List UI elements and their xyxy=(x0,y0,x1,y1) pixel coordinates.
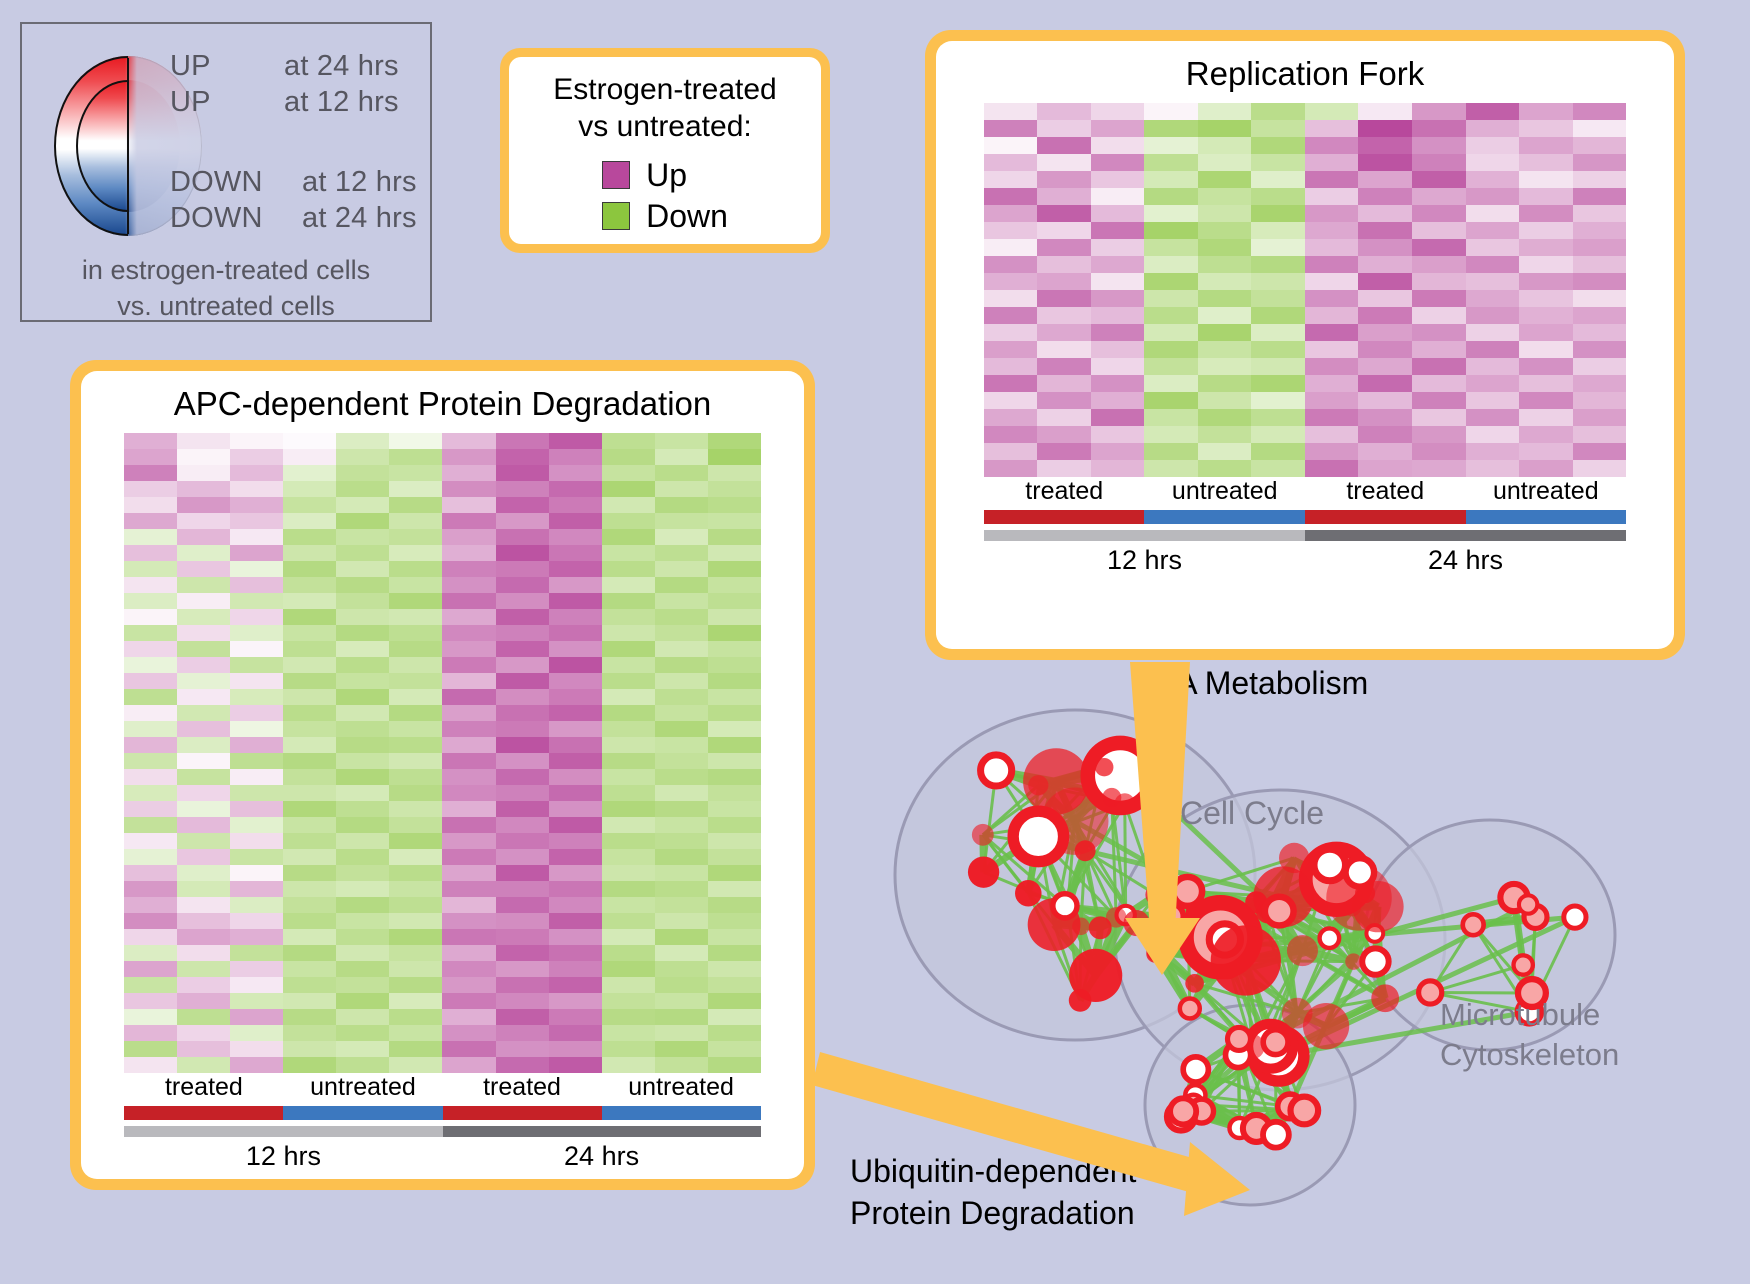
heat-cell xyxy=(1466,341,1520,358)
heat-cell xyxy=(442,817,495,833)
heat-cell xyxy=(1305,375,1359,392)
heat-cell xyxy=(1037,409,1091,426)
heat-cell xyxy=(283,1009,336,1025)
heat-cell xyxy=(336,593,389,609)
up-label: Up xyxy=(646,157,687,194)
heat-cell xyxy=(283,801,336,817)
heat-cell xyxy=(1091,137,1145,154)
scale-footer-line2: vs. untreated cells xyxy=(22,288,430,324)
heat-cell xyxy=(655,481,708,497)
heat-cell xyxy=(549,865,602,881)
heat-cell xyxy=(1305,426,1359,443)
heat-cell xyxy=(389,801,442,817)
heat-cell xyxy=(1091,409,1145,426)
heat-cell xyxy=(1412,358,1466,375)
network-node xyxy=(1053,894,1077,918)
heat-cell xyxy=(655,593,708,609)
heat-cell xyxy=(283,561,336,577)
heat-cell xyxy=(1144,103,1198,120)
heat-cell xyxy=(602,609,655,625)
heat-cell xyxy=(124,961,177,977)
heat-cell xyxy=(549,657,602,673)
heat-cell xyxy=(336,993,389,1009)
heat-cell xyxy=(389,673,442,689)
network-node xyxy=(1173,877,1202,906)
heat-cell xyxy=(1466,256,1520,273)
heat-cell xyxy=(1144,324,1198,341)
heat-cell xyxy=(549,881,602,897)
heat-cell xyxy=(708,689,761,705)
heat-cell xyxy=(442,977,495,993)
heat-cell xyxy=(1466,120,1520,137)
heat-cell xyxy=(177,945,230,961)
heat-cell xyxy=(1198,188,1252,205)
network-node xyxy=(1419,981,1442,1004)
heat-cell xyxy=(336,577,389,593)
heat-cell xyxy=(389,737,442,753)
heat-cell xyxy=(1091,426,1145,443)
network-node xyxy=(1362,948,1388,974)
heat-cell xyxy=(1358,409,1412,426)
apc-sheet: APC-dependent Protein Degradation treate… xyxy=(81,371,804,1179)
heat-cell xyxy=(1091,273,1145,290)
heat-cell xyxy=(283,833,336,849)
heat-cell xyxy=(177,609,230,625)
heat-cell xyxy=(230,593,283,609)
heat-cell xyxy=(442,641,495,657)
heat-cell xyxy=(602,529,655,545)
heat-cell xyxy=(442,721,495,737)
heat-cell xyxy=(1573,239,1627,256)
heat-cell xyxy=(283,545,336,561)
heat-cell xyxy=(336,785,389,801)
time-label: 12 hrs xyxy=(984,545,1305,576)
heat-cell xyxy=(708,1025,761,1041)
heat-cell xyxy=(1037,171,1091,188)
heat-cell xyxy=(124,497,177,513)
heat-cell xyxy=(549,1057,602,1073)
heat-cell xyxy=(1037,239,1091,256)
heat-cell xyxy=(124,865,177,881)
panel-apc-degradation: APC-dependent Protein Degradation treate… xyxy=(70,360,815,1190)
heat-cell xyxy=(1412,409,1466,426)
heat-cell xyxy=(1412,137,1466,154)
apc-time-bar xyxy=(124,1126,760,1137)
heat-cell xyxy=(1144,375,1198,392)
heat-cell xyxy=(389,977,442,993)
heat-cell xyxy=(1466,154,1520,171)
heat-cell xyxy=(177,497,230,513)
heat-cell xyxy=(602,497,655,513)
heat-cell xyxy=(1519,222,1573,239)
heat-cell xyxy=(708,1041,761,1057)
heat-cell xyxy=(496,705,549,721)
heat-cell xyxy=(1358,137,1412,154)
heat-cell xyxy=(230,577,283,593)
heat-cell xyxy=(1091,460,1145,477)
replication-fork-time-bar xyxy=(984,530,1626,541)
heat-cell xyxy=(442,577,495,593)
heat-cell xyxy=(655,881,708,897)
replication-fork-title: Replication Fork xyxy=(1186,55,1424,93)
heat-cell xyxy=(336,465,389,481)
heat-cell xyxy=(1358,375,1412,392)
heat-cell xyxy=(1519,426,1573,443)
heat-cell xyxy=(389,993,442,1009)
heat-cell xyxy=(442,465,495,481)
heat-cell xyxy=(1091,154,1145,171)
heat-cell xyxy=(1144,256,1198,273)
network-node xyxy=(1263,1030,1288,1055)
ubiquitin-line1: Ubiquitin-dependent xyxy=(850,1150,1136,1192)
heat-cell xyxy=(1573,392,1627,409)
heat-cell xyxy=(496,497,549,513)
heat-cell xyxy=(336,1057,389,1073)
heat-cell xyxy=(1573,154,1627,171)
heat-cell xyxy=(708,961,761,977)
heat-cell xyxy=(1251,426,1305,443)
heat-cell xyxy=(442,849,495,865)
heat-cell xyxy=(1144,273,1198,290)
heat-cell xyxy=(283,577,336,593)
panel-replication-fork: Replication Fork treateduntreatedtreated… xyxy=(925,30,1685,660)
heat-cell xyxy=(708,977,761,993)
heat-cell xyxy=(124,785,177,801)
heat-cell xyxy=(602,465,655,481)
heat-cell xyxy=(230,1009,283,1025)
heat-cell xyxy=(283,1041,336,1057)
heat-cell xyxy=(708,753,761,769)
heat-cell xyxy=(336,945,389,961)
heat-cell xyxy=(602,705,655,721)
heat-cell xyxy=(124,673,177,689)
heat-cell xyxy=(1305,188,1359,205)
heat-cell xyxy=(549,833,602,849)
heat-cell xyxy=(1037,460,1091,477)
heat-cell xyxy=(1412,256,1466,273)
heat-cell xyxy=(602,913,655,929)
heat-cell xyxy=(708,801,761,817)
heat-cell xyxy=(1198,307,1252,324)
heat-cell xyxy=(1412,205,1466,222)
heat-cell xyxy=(124,1025,177,1041)
heat-cell xyxy=(708,849,761,865)
heat-cell xyxy=(442,929,495,945)
heat-cell xyxy=(1412,290,1466,307)
heat-cell xyxy=(496,817,549,833)
heat-cell xyxy=(655,529,708,545)
heat-cell xyxy=(1519,324,1573,341)
heat-cell xyxy=(655,977,708,993)
heat-cell xyxy=(1519,120,1573,137)
heat-cell xyxy=(1412,426,1466,443)
heat-cell xyxy=(1358,171,1412,188)
network-node xyxy=(1170,1098,1196,1124)
heat-cell xyxy=(336,721,389,737)
heat-cell xyxy=(1144,205,1198,222)
heat-cell xyxy=(1144,290,1198,307)
heat-cell xyxy=(1251,409,1305,426)
heat-cell xyxy=(389,481,442,497)
heat-cell xyxy=(389,657,442,673)
heat-cell xyxy=(1144,188,1198,205)
heat-cell xyxy=(1198,222,1252,239)
heat-cell xyxy=(283,657,336,673)
heat-cell xyxy=(336,641,389,657)
apc-axis: treateduntreatedtreateduntreated 12 hrs2… xyxy=(124,1073,760,1172)
heat-cell xyxy=(496,801,549,817)
heat-cell xyxy=(442,753,495,769)
heat-cell xyxy=(336,705,389,721)
heat-cell xyxy=(1305,120,1359,137)
heat-cell xyxy=(1519,239,1573,256)
heat-cell xyxy=(984,222,1038,239)
heat-cell xyxy=(336,865,389,881)
scale-time-up-12: at 12 hrs xyxy=(284,86,399,119)
heat-cell xyxy=(177,801,230,817)
heat-cell xyxy=(496,737,549,753)
heat-cell xyxy=(602,785,655,801)
heat-cell xyxy=(1144,222,1198,239)
heat-cell xyxy=(1358,239,1412,256)
heat-cell xyxy=(1412,375,1466,392)
heat-cell xyxy=(389,769,442,785)
heat-cell xyxy=(230,849,283,865)
heat-cell xyxy=(1198,375,1252,392)
heat-cell xyxy=(1573,358,1627,375)
heat-cell xyxy=(602,1041,655,1057)
heat-cell xyxy=(708,913,761,929)
heat-cell xyxy=(230,529,283,545)
heat-cell xyxy=(442,881,495,897)
scale-label-up-24: UP xyxy=(170,50,211,83)
ubiquitin-line2: Protein Degradation xyxy=(850,1192,1136,1234)
heat-cell xyxy=(496,593,549,609)
network-node xyxy=(1263,1122,1289,1148)
heat-cell xyxy=(602,753,655,769)
heat-cell xyxy=(389,577,442,593)
heat-cell xyxy=(230,497,283,513)
heat-cell xyxy=(549,753,602,769)
heat-cell xyxy=(496,913,549,929)
heat-cell xyxy=(655,497,708,513)
heat-cell xyxy=(124,977,177,993)
heat-cell xyxy=(602,849,655,865)
heat-cell xyxy=(602,833,655,849)
heat-cell xyxy=(1251,154,1305,171)
heat-cell xyxy=(336,801,389,817)
heat-cell xyxy=(1091,307,1145,324)
heat-cell xyxy=(655,1009,708,1025)
heat-cell xyxy=(230,625,283,641)
heat-cell xyxy=(336,929,389,945)
heat-cell xyxy=(1412,341,1466,358)
heat-cell xyxy=(1251,120,1305,137)
heat-cell xyxy=(1412,392,1466,409)
network-node xyxy=(1314,849,1346,881)
heat-cell xyxy=(1037,188,1091,205)
heat-cell xyxy=(442,529,495,545)
heat-cell xyxy=(655,913,708,929)
heat-cell xyxy=(496,465,549,481)
heat-cell xyxy=(1251,307,1305,324)
heat-cell xyxy=(1251,137,1305,154)
heat-cell xyxy=(336,817,389,833)
heat-cell xyxy=(1037,443,1091,460)
heat-cell xyxy=(1519,409,1573,426)
condition-bar-segment xyxy=(283,1106,442,1120)
heat-cell xyxy=(1198,256,1252,273)
heat-cell xyxy=(230,961,283,977)
heat-cell xyxy=(442,481,495,497)
heat-cell xyxy=(496,689,549,705)
heat-cell xyxy=(230,865,283,881)
heat-cell xyxy=(230,929,283,945)
heat-cell xyxy=(496,929,549,945)
heat-cell xyxy=(655,849,708,865)
heat-cell xyxy=(177,817,230,833)
heat-cell xyxy=(984,392,1038,409)
heat-cell xyxy=(602,561,655,577)
heat-cell xyxy=(336,433,389,449)
heat-cell xyxy=(655,993,708,1009)
heat-cell xyxy=(1412,222,1466,239)
heat-cell xyxy=(283,945,336,961)
heat-cell xyxy=(389,753,442,769)
heat-cell xyxy=(389,1025,442,1041)
heat-cell xyxy=(1412,120,1466,137)
heat-cell xyxy=(442,945,495,961)
heat-cell xyxy=(1573,341,1627,358)
heat-cell xyxy=(230,913,283,929)
heat-cell xyxy=(1573,188,1627,205)
time-label: 24 hrs xyxy=(443,1141,761,1172)
heat-cell xyxy=(655,865,708,881)
condition-label: untreated xyxy=(1144,477,1305,506)
heat-cell xyxy=(442,609,495,625)
heat-cell xyxy=(389,945,442,961)
heat-cell xyxy=(336,561,389,577)
heat-cell xyxy=(496,993,549,1009)
heat-cell xyxy=(496,1025,549,1041)
heat-cell xyxy=(549,577,602,593)
heat-cell xyxy=(283,497,336,513)
heat-cell xyxy=(124,881,177,897)
network-node xyxy=(1227,1027,1250,1050)
heat-cell xyxy=(984,103,1038,120)
heat-cell xyxy=(655,689,708,705)
heat-cell xyxy=(1037,375,1091,392)
heat-cell xyxy=(1573,205,1627,222)
heat-cell xyxy=(1573,426,1627,443)
heat-cell xyxy=(602,817,655,833)
heat-cell xyxy=(984,137,1038,154)
heat-cell xyxy=(655,769,708,785)
heat-cell xyxy=(1573,375,1627,392)
network-node xyxy=(981,755,1012,786)
microtubule-line2: Cytoskeleton xyxy=(1440,1035,1619,1075)
heat-cell xyxy=(1198,341,1252,358)
heat-cell xyxy=(1466,443,1520,460)
heat-cell xyxy=(442,625,495,641)
heat-cell xyxy=(283,449,336,465)
heat-cell xyxy=(1037,341,1091,358)
heat-cell xyxy=(602,593,655,609)
heat-cell xyxy=(177,689,230,705)
heat-cell xyxy=(984,188,1038,205)
heat-cell xyxy=(442,593,495,609)
heat-cell xyxy=(389,449,442,465)
heat-cell xyxy=(1573,137,1627,154)
heat-cell xyxy=(1091,358,1145,375)
network-node xyxy=(1180,998,1200,1018)
heat-cell xyxy=(496,785,549,801)
heat-cell xyxy=(1037,358,1091,375)
heat-cell xyxy=(496,881,549,897)
heat-cell xyxy=(1198,290,1252,307)
heat-cell xyxy=(1251,290,1305,307)
network-node xyxy=(1185,974,1204,993)
network-node xyxy=(1345,953,1362,970)
heat-cell xyxy=(708,513,761,529)
heat-cell xyxy=(496,641,549,657)
heat-cell xyxy=(496,769,549,785)
network-node xyxy=(1015,880,1042,907)
heat-cell xyxy=(1251,188,1305,205)
heat-cell xyxy=(177,769,230,785)
heat-cell xyxy=(708,785,761,801)
heat-cell xyxy=(283,993,336,1009)
heat-cell xyxy=(283,705,336,721)
network-node xyxy=(1287,935,1318,966)
updown-legend-keys: Up Down xyxy=(602,153,728,235)
heat-cell xyxy=(708,737,761,753)
heat-cell xyxy=(1091,120,1145,137)
heat-cell xyxy=(283,929,336,945)
heat-cell xyxy=(602,801,655,817)
heat-cell xyxy=(496,849,549,865)
heat-cell xyxy=(442,561,495,577)
heat-cell xyxy=(496,561,549,577)
heat-cell xyxy=(336,1025,389,1041)
heat-cell xyxy=(124,449,177,465)
heat-cell xyxy=(655,641,708,657)
heat-cell xyxy=(1466,324,1520,341)
heat-cell xyxy=(549,929,602,945)
heat-cell xyxy=(549,625,602,641)
heat-cell xyxy=(1198,205,1252,222)
heat-cell xyxy=(655,449,708,465)
network-node xyxy=(1095,758,1113,776)
heat-cell xyxy=(1251,443,1305,460)
heat-cell xyxy=(442,865,495,881)
heat-cell xyxy=(1412,154,1466,171)
heat-cell xyxy=(602,673,655,689)
scale-label-up-12: UP xyxy=(170,86,211,119)
heat-cell xyxy=(283,977,336,993)
heat-cell xyxy=(602,945,655,961)
heat-cell xyxy=(1466,171,1520,188)
heat-cell xyxy=(283,753,336,769)
heat-cell xyxy=(1144,460,1198,477)
network-node xyxy=(1069,989,1092,1012)
heat-cell xyxy=(230,769,283,785)
heat-cell xyxy=(124,561,177,577)
heat-cell xyxy=(549,961,602,977)
heat-cell xyxy=(602,545,655,561)
heat-cell xyxy=(230,641,283,657)
heat-cell xyxy=(177,833,230,849)
